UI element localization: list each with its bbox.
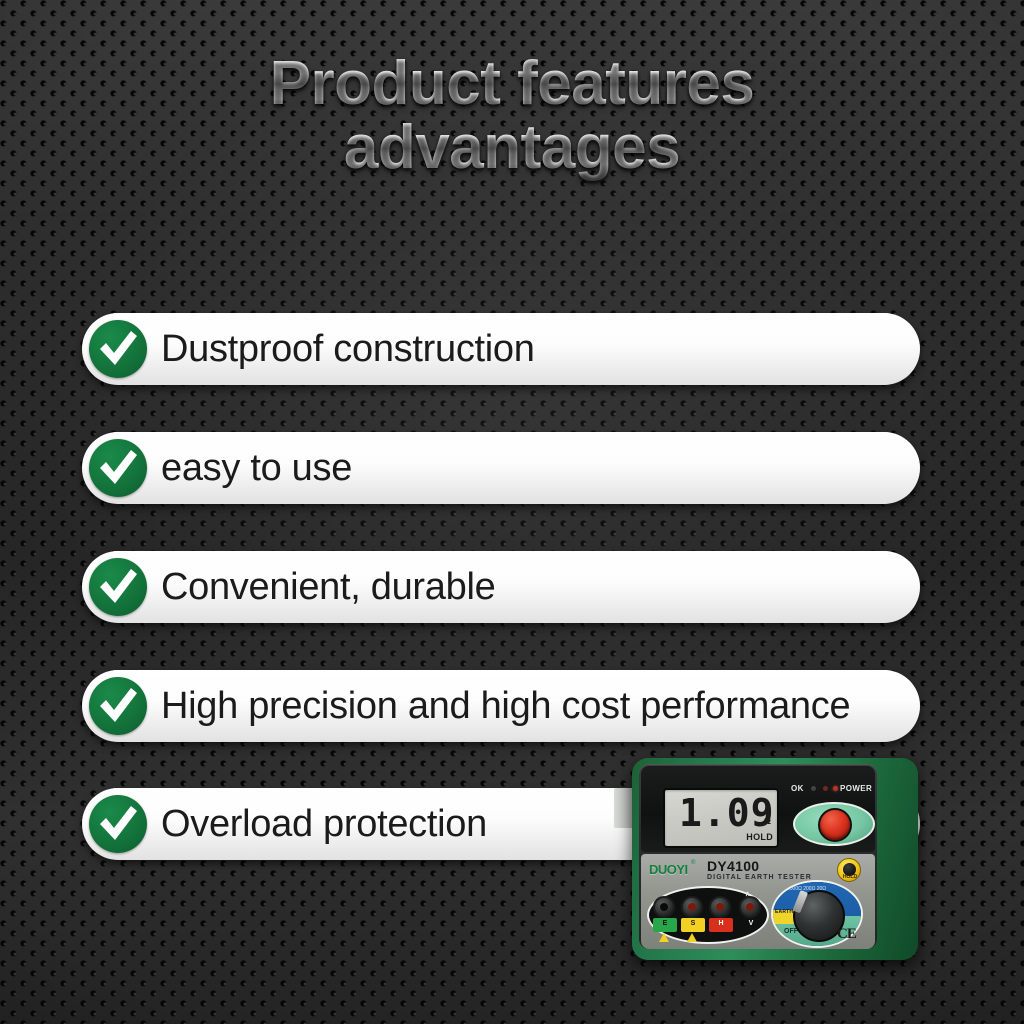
terminal-label-e: E: [653, 920, 677, 927]
feature-label: Overload protection: [161, 803, 487, 846]
test-button[interactable]: [818, 808, 852, 842]
feature-label: Dustproof construction: [161, 328, 535, 371]
terminal-core-e: [660, 903, 668, 911]
terminal-socket-v[interactable]: [739, 896, 761, 918]
power-indicator-label: POWER: [840, 784, 872, 793]
led-indicator-2: [823, 786, 828, 791]
terminal-socket-h[interactable]: [709, 896, 731, 918]
feature-label: Convenient, durable: [161, 566, 495, 609]
lcd-unit-ohm: Ω: [764, 816, 771, 826]
check-circle-icon: [89, 677, 147, 735]
terminal-label-h: H: [709, 920, 733, 927]
terminal-socket-s[interactable]: [681, 896, 703, 918]
check-circle-icon: [89, 795, 147, 853]
page-title: Product features advantages: [0, 52, 1024, 181]
warning-triangle-icon: [687, 933, 697, 942]
check-circle-icon: [89, 320, 147, 378]
lcd-hold-indicator: HOLD: [746, 832, 773, 842]
led-indicator-power: [833, 786, 838, 791]
brand-registered-mark: ®: [691, 860, 695, 866]
title-line-2: advantages: [0, 116, 1024, 180]
terminal-label-s: S: [681, 920, 705, 927]
feature-item-easy-to-use[interactable]: easy to use: [82, 432, 920, 504]
feature-item-convenient-durable[interactable]: Convenient, durable: [82, 551, 920, 623]
device-upper-panel: 1.09 Ω HOLD OK POWER: [641, 766, 875, 852]
terminal-socket-e[interactable]: [653, 896, 675, 918]
terminal-core-s: [688, 903, 696, 911]
terminal-core-h: [716, 903, 724, 911]
lcd-value: 1.09: [679, 794, 775, 832]
device-lower-panel: DUOYI ® DY4100 DIGITAL EARTH TESTER ∧ E …: [641, 854, 875, 949]
hold-button-label: HOLD: [840, 874, 860, 880]
brand-logo: DUOYI: [649, 862, 688, 877]
product-feature-banner: Product features advantages Dustproof co…: [0, 0, 1024, 1024]
check-circle-icon: [89, 439, 147, 497]
test-button-surround: [793, 802, 875, 846]
device-model-subtitle: DIGITAL EARTH TESTER: [707, 874, 812, 881]
lcd-display: 1.09 Ω HOLD: [663, 788, 779, 848]
feature-label: High precision and high cost performance: [161, 685, 850, 728]
terminal-core-v: [746, 903, 754, 911]
ok-indicator-label: OK: [791, 784, 804, 793]
hold-button[interactable]: HOLD: [837, 858, 861, 882]
feature-item-high-precision[interactable]: High precision and high cost performance: [82, 670, 920, 742]
title-line-1: Product features: [0, 52, 1024, 116]
check-circle-icon: [89, 558, 147, 616]
led-indicator-1: [811, 786, 816, 791]
ce-mark: CE: [837, 926, 856, 943]
warning-triangle-icon: [659, 933, 669, 942]
terminal-block: ∧ E S H: [647, 886, 769, 944]
device-model: DY4100: [707, 858, 759, 874]
feature-item-dustproof-construction[interactable]: Dustproof construction: [82, 313, 920, 385]
terminal-label-v: V: [739, 920, 763, 927]
feature-label: easy to use: [161, 447, 352, 490]
product-image-earth-tester: 1.09 Ω HOLD OK POWER DUOYI ® DY4100 DIGI…: [632, 758, 918, 960]
